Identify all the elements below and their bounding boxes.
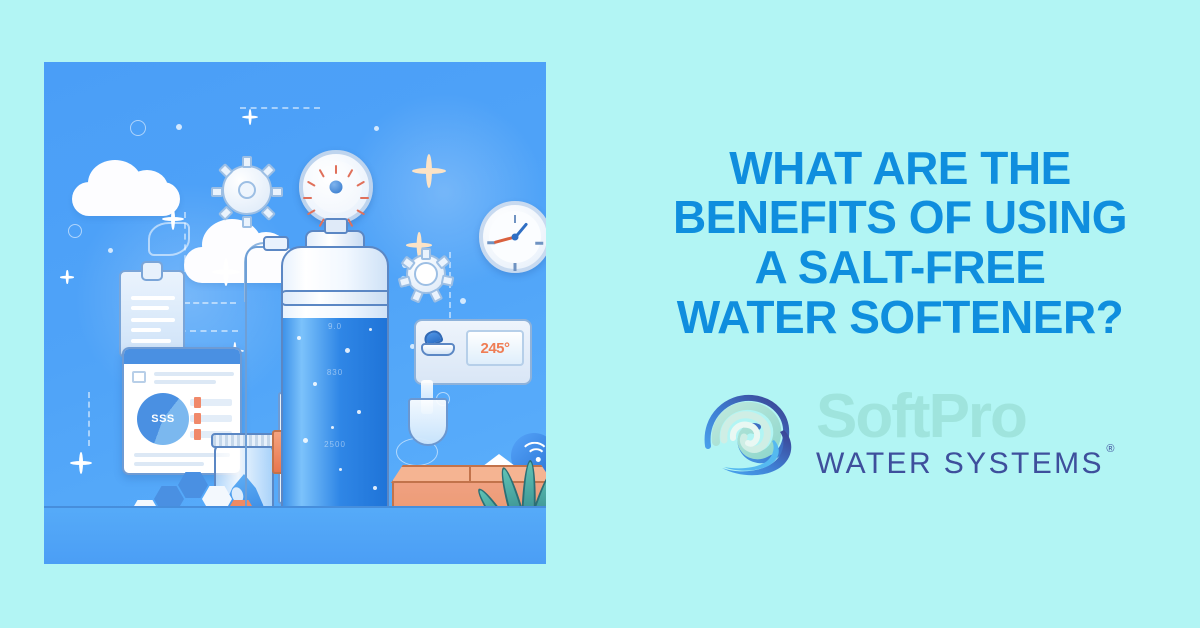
dot: [108, 248, 113, 253]
brand-tagline-text: WATER SYSTEMS: [816, 447, 1104, 480]
faucet-icon: [419, 331, 463, 361]
clipboard-clip: [141, 261, 163, 281]
ground-plane: [44, 506, 546, 564]
sparkle-icon: [242, 109, 258, 125]
headline-line-2: BENEFITS OF USING: [640, 193, 1160, 243]
ground-line: [44, 506, 546, 509]
ring: [68, 224, 82, 238]
tank-side-pipe: [245, 246, 267, 546]
dashed-guide: [184, 302, 236, 304]
headline-line-3: A SALT-FREE: [640, 243, 1160, 293]
logo-wordmark: SoftPro WATER SYSTEMS ®: [816, 392, 1104, 481]
document-header-bar: [122, 347, 242, 364]
water-softener-system-illustration: ♥ ♥: [44, 62, 546, 564]
sparkle-icon: [412, 154, 446, 188]
document-checkbox: [132, 371, 146, 383]
sparkle-icon: [60, 270, 74, 284]
box-flap-left: [391, 465, 475, 483]
pie-chart: SSS: [137, 393, 189, 445]
brand-tagline: WATER SYSTEMS ®: [816, 447, 1104, 482]
dashed-guide: [88, 392, 90, 446]
clock-hub: [512, 234, 519, 241]
gauge-stem: [324, 218, 348, 234]
tank-valve: [263, 236, 289, 251]
tank-marking: 2500: [283, 440, 387, 449]
thermostat-display: 245°: [466, 330, 524, 366]
brand-name: SoftPro: [816, 392, 1104, 443]
hexagon-molecule: [178, 472, 208, 498]
headline-line-4: WATER SOFTENER?: [640, 293, 1160, 343]
sparkle-icon: [212, 258, 240, 286]
pressure-gauge-icon: [299, 150, 373, 224]
clipboard-icon: [119, 270, 185, 358]
water-swirl-icon: [696, 388, 800, 484]
thermostat-value: 245°: [480, 340, 509, 357]
tank-marking: 830: [283, 368, 387, 377]
pie-chart-label: SSS: [151, 413, 175, 425]
dot: [176, 124, 182, 130]
dot: [374, 126, 379, 131]
thermostat-panel: 245°: [414, 319, 532, 385]
content-column: WHAT ARE THE BENEFITS OF USING A SALT-FR…: [600, 0, 1200, 628]
sparkle-icon: [70, 452, 92, 474]
gauge-hub: [330, 181, 343, 194]
gear-icon: [406, 254, 446, 294]
clock-face: [489, 211, 541, 263]
headline-line-1: WHAT ARE THE: [640, 144, 1160, 194]
flask-bottle: [545, 300, 546, 408]
ring: [130, 120, 146, 136]
cloud-puff: [126, 170, 168, 206]
leaf-badge-icon: [148, 222, 190, 256]
tank-collar: [281, 290, 389, 306]
dot: [460, 298, 466, 304]
gauge-face: [310, 161, 362, 213]
registered-trademark-symbol: ®: [1106, 443, 1117, 456]
drinking-glass: [408, 398, 448, 446]
page-title: WHAT ARE THE BENEFITS OF USING A SALT-FR…: [640, 144, 1160, 343]
faucet-spout: [421, 343, 455, 356]
gear-icon: [222, 165, 272, 215]
softpro-logo: SoftPro WATER SYSTEMS ®: [696, 388, 1104, 484]
wall-clock-icon: [479, 201, 546, 273]
